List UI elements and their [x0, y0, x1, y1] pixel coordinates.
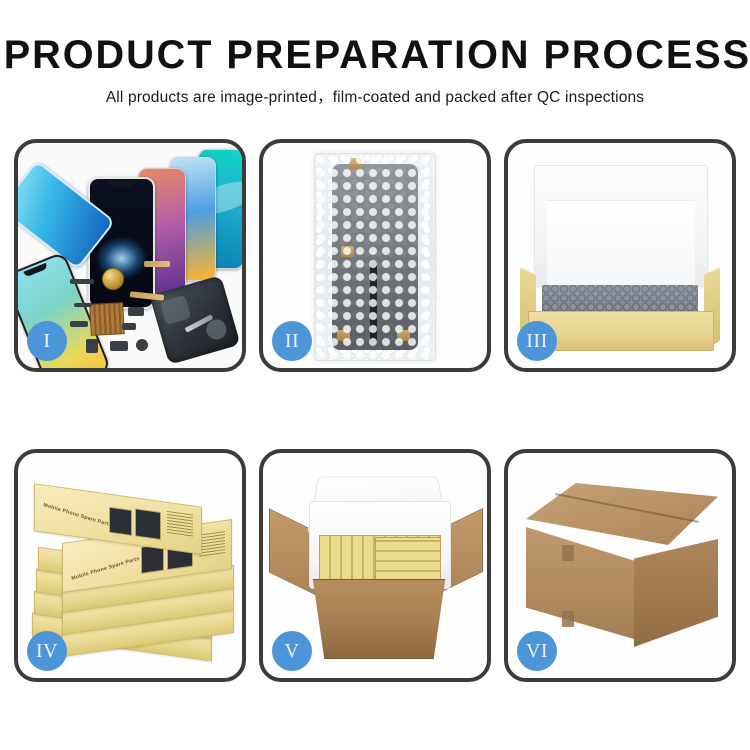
spare-part-bar — [70, 279, 94, 284]
step-badge-6: VI — [517, 631, 557, 671]
process-step-panel-1[interactable]: I — [14, 139, 246, 372]
carton-front-face — [526, 527, 634, 639]
speaker-module — [102, 268, 124, 290]
gold-connector-bottom-left — [337, 330, 350, 341]
spare-part-strip — [74, 303, 92, 307]
logic-board-chip — [89, 302, 125, 336]
bubble-wrap-bag — [314, 153, 436, 361]
carton-tape-lower — [562, 611, 574, 627]
page-title: PRODUCT PREPARATION PROCESS — [4, 34, 747, 76]
spare-part-connector — [122, 323, 136, 330]
gold-connector-bottom-right — [397, 330, 410, 341]
white-foam-insert — [534, 165, 708, 287]
spare-part-shield — [70, 321, 88, 327]
gold-connector-top — [349, 158, 362, 169]
retail-box-spec-lines-1 — [167, 511, 193, 539]
process-step-panel-4[interactable]: Mobile Phone Spare Parts Mobile Phone Sp… — [14, 449, 246, 682]
spare-part-bracket — [110, 341, 128, 351]
step-badge-4: IV — [27, 631, 67, 671]
spare-part-button — [136, 339, 148, 351]
step-badge-2: II — [272, 321, 312, 361]
step-badge-3: III — [517, 321, 557, 361]
step-badge-1: I — [27, 321, 67, 361]
step-badge-5: V — [272, 631, 312, 671]
gold-connector-mid — [341, 246, 354, 257]
carton-side-face — [634, 539, 718, 647]
spare-part-camera — [128, 307, 144, 316]
spare-part-sim-tray — [86, 339, 98, 353]
retail-box-window-1a — [109, 507, 132, 536]
process-step-grid: I II III — [14, 139, 736, 682]
retail-box-spec-lines-2 — [199, 531, 225, 559]
shipping-carton-open — [307, 579, 451, 659]
wrapped-spare-part — [332, 164, 418, 350]
process-step-panel-2[interactable]: II — [259, 139, 491, 372]
page-header: PRODUCT PREPARATION PROCESS All products… — [0, 0, 750, 107]
retail-box-window-1b — [135, 508, 161, 540]
flex-cable-gold-1 — [144, 261, 170, 267]
carton-tape-upper — [562, 545, 574, 561]
gray-bubble-wrap-layer — [542, 285, 698, 313]
process-step-panel-3[interactable]: III — [504, 139, 736, 372]
process-step-panel-5[interactable]: V — [259, 449, 491, 682]
page-subtitle: All products are image-printed，film-coat… — [0, 85, 750, 107]
packed-retail-boxes-row-2 — [375, 537, 441, 581]
process-step-panel-6[interactable]: VI — [504, 449, 736, 682]
